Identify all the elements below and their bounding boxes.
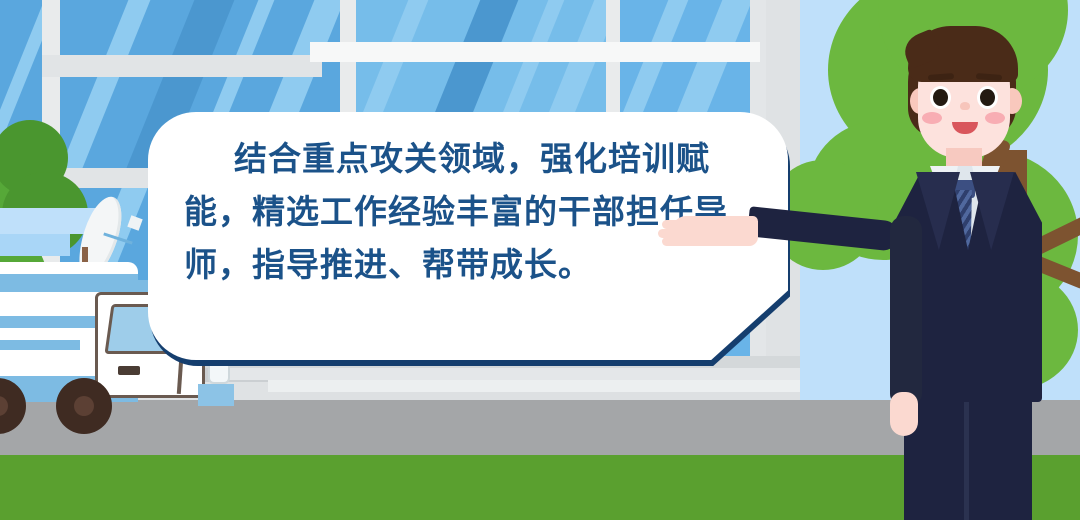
- van-bumper: [198, 384, 234, 406]
- character-eye: [930, 86, 951, 109]
- van-door-handle: [118, 366, 140, 375]
- character-leg-seam: [964, 400, 969, 520]
- character-eye: [977, 86, 998, 109]
- dish-feed-horn: [127, 215, 142, 230]
- illustration-scene: 结合重点攻关领域，强化培训赋能，精选工作经验丰富的干部担任导师，指导推进、帮带成…: [0, 0, 1080, 520]
- glass-panel: [620, 0, 750, 130]
- character-cheek: [922, 112, 942, 124]
- van-stripe: [0, 340, 80, 350]
- character-nose: [960, 102, 970, 110]
- character-cheek: [985, 112, 1005, 124]
- glass-panel: [356, 0, 606, 130]
- speech-bubble-text: 结合重点攻关领域，强化培训赋能，精选工作经验丰富的干部担任导师，指导推进、帮带成…: [184, 132, 754, 291]
- businessman-character: [860, 20, 1080, 520]
- character-hand: [672, 216, 758, 246]
- character-arm-left: [890, 216, 922, 404]
- van-wheel: [56, 378, 112, 434]
- floor-band: [310, 42, 760, 62]
- step: [268, 380, 800, 392]
- step: [228, 368, 800, 380]
- van-stripe: [0, 316, 100, 328]
- floor-band: [42, 55, 322, 77]
- character-hand-left: [890, 392, 918, 436]
